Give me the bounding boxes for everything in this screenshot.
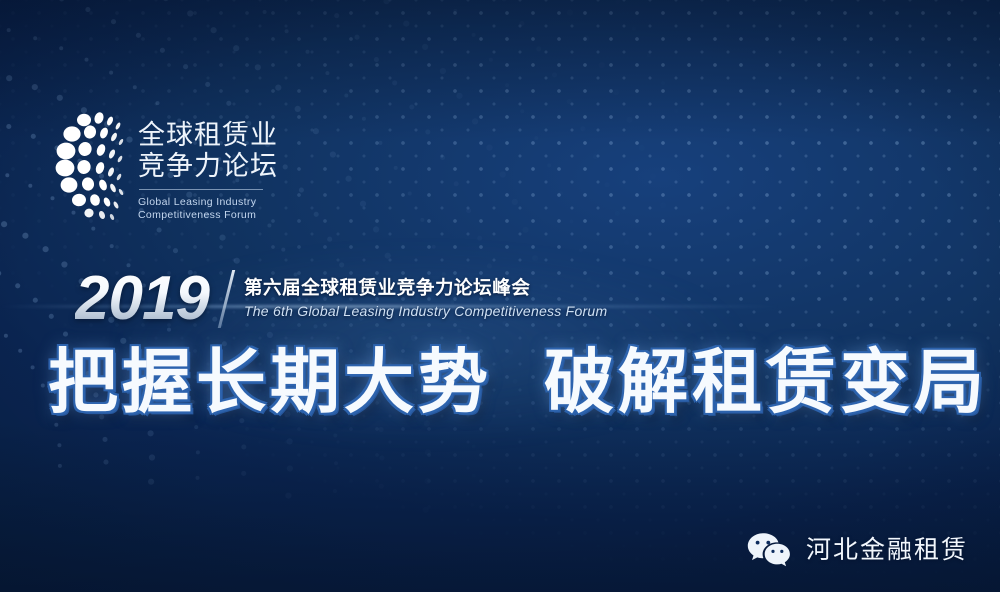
event-title-row: 2019 第六届全球租赁业竞争力论坛峰会 The 6th Global Leas… (75, 268, 607, 330)
forum-logo-title-line1: 全球租赁业 (138, 120, 278, 151)
wechat-account-name: 河北金融租赁 (806, 535, 968, 565)
headline: 把握长期大势 破解租赁变局 (48, 344, 960, 420)
forum-logo-divider (139, 189, 263, 190)
forum-logo-en-line1: Global Leasing Industry (138, 196, 278, 209)
event-subtitle-en: The 6th Global Leasing Industry Competit… (244, 302, 607, 321)
headline-part-1: 把握长期大势 (48, 344, 492, 420)
event-year: 2019 (75, 268, 215, 330)
wechat-account: 河北金融租赁 (746, 532, 968, 568)
forum-logo-title-line2: 竞争力论坛 (138, 151, 278, 182)
year-subtitle-separator (218, 270, 235, 328)
event-subtitle-group: 第六届全球租赁业竞争力论坛峰会 The 6th Global Leasing I… (244, 276, 607, 323)
forum-logo-text: 全球租赁业 竞争力论坛 Global Leasing Industry Comp… (138, 108, 278, 222)
forum-logo: 全球租赁业 竞争力论坛 Global Leasing Industry Comp… (54, 108, 278, 228)
event-subtitle-cn: 第六届全球租赁业竞争力论坛峰会 (244, 276, 607, 299)
forum-logo-en-line2: Competitiveness Forum (138, 209, 278, 222)
headline-part-2: 破解租赁变局 (544, 344, 988, 420)
global-leasing-sphere-logo-icon (54, 108, 128, 228)
wechat-icon (746, 532, 792, 568)
poster-banner: 全球租赁业 竞争力论坛 Global Leasing Industry Comp… (0, 0, 1000, 592)
